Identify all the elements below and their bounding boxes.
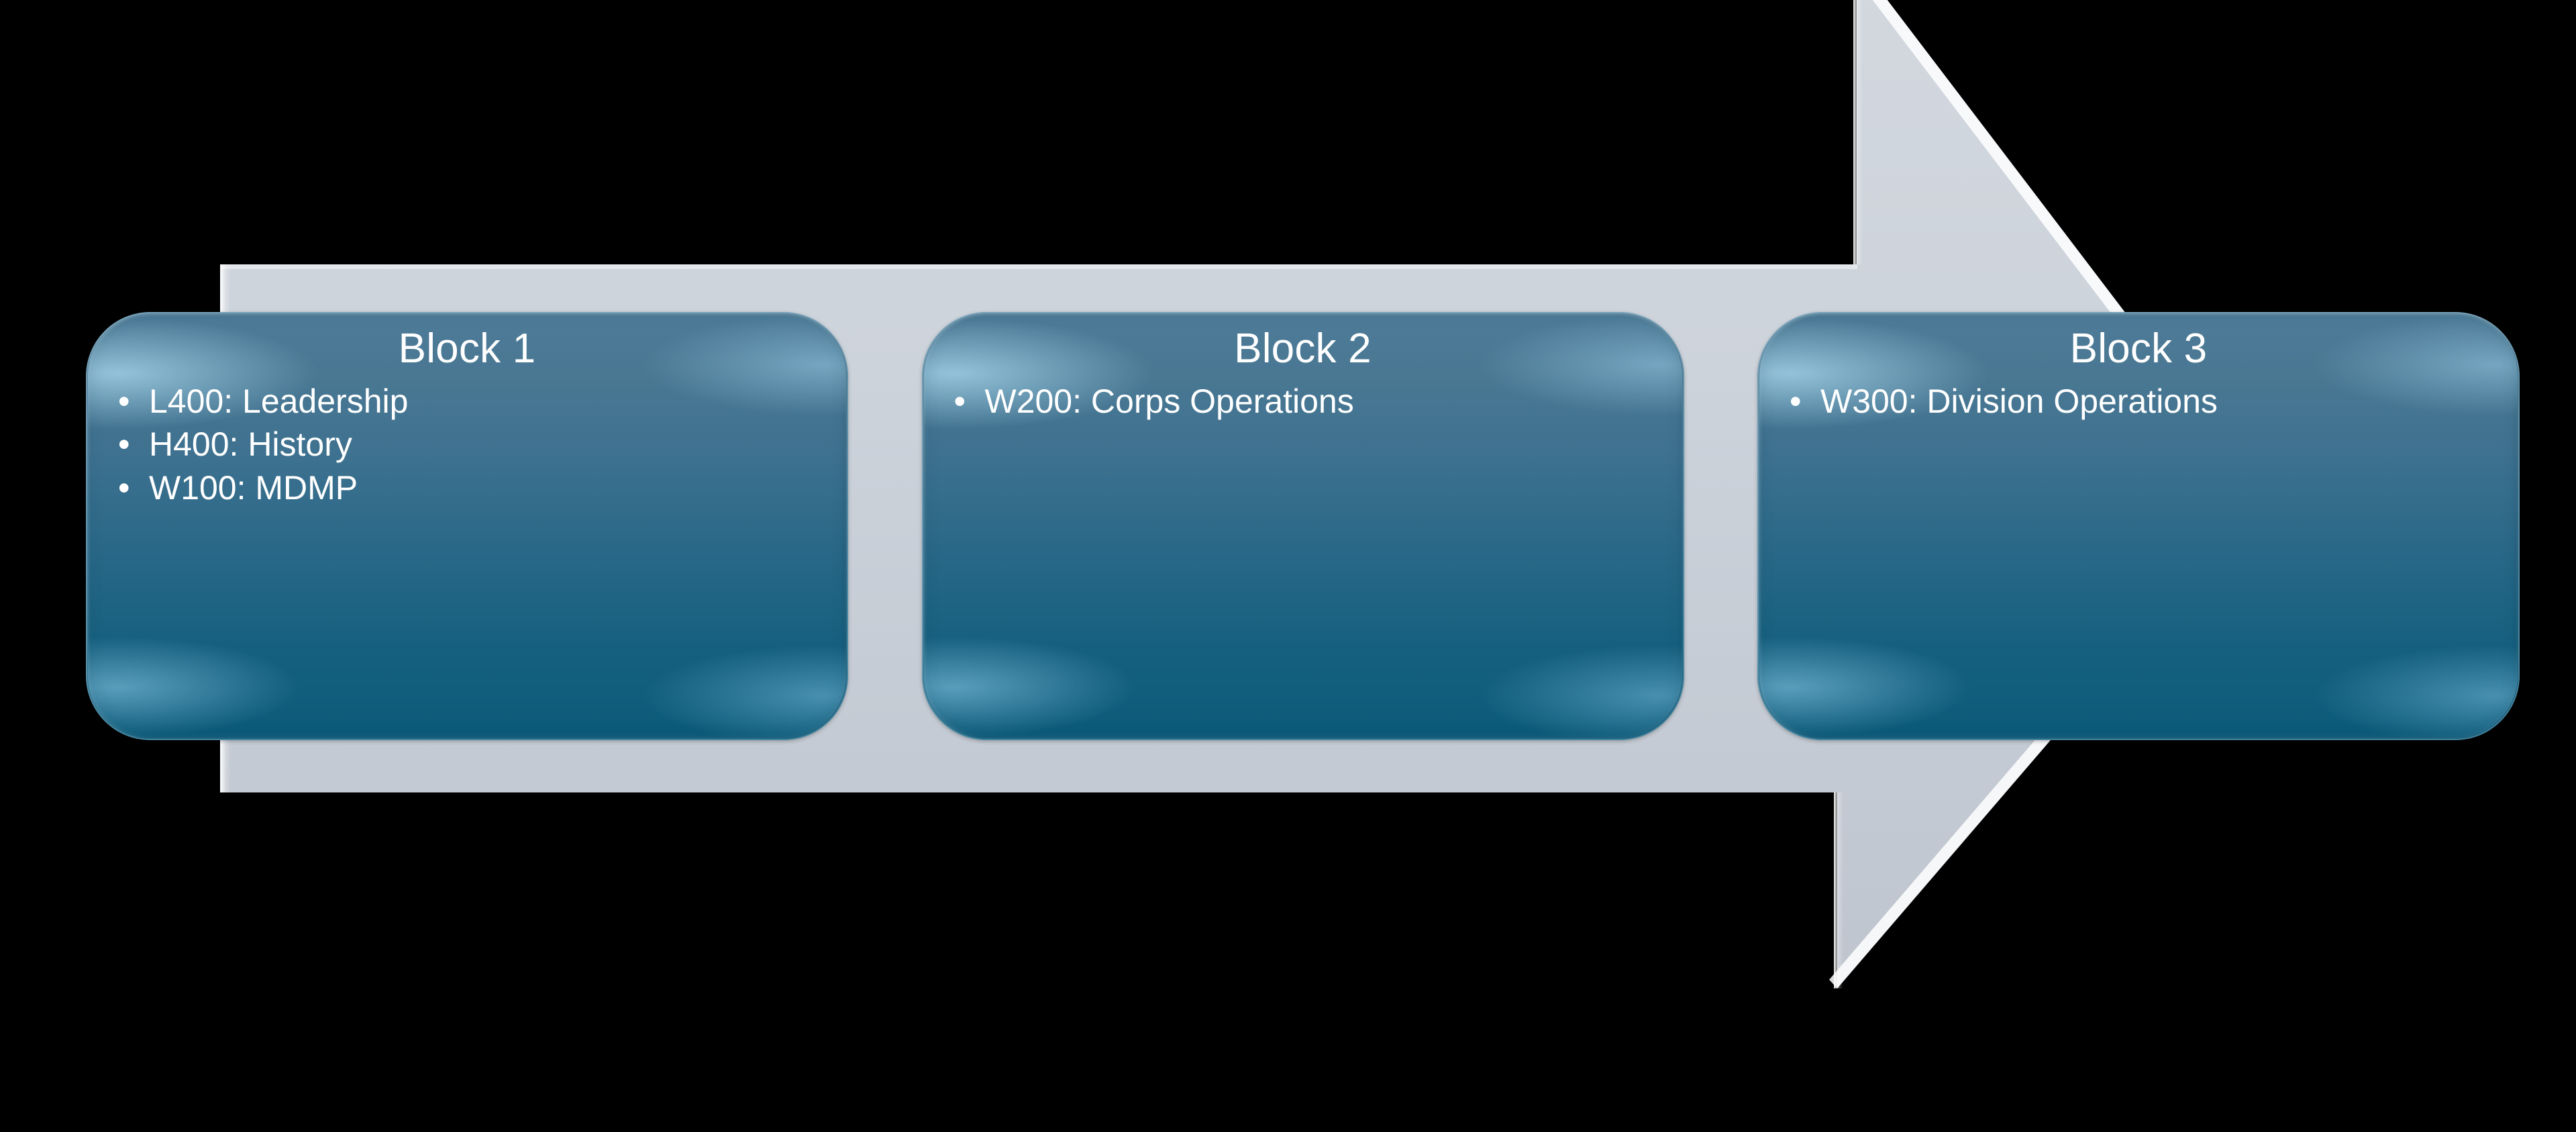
blocks-row: Block 1 • L400: Leadership • H400: Histo… [86, 312, 2520, 740]
bullet-icon: • [118, 468, 130, 508]
block-3-title: Block 3 [1788, 327, 2489, 371]
block-2-content: Block 2 • W200: Corps Operations [953, 327, 1653, 421]
block-3-content: Block 3 • W300: Division Operations [1788, 327, 2489, 421]
list-item: • H400: History [117, 425, 817, 464]
bullet-icon: • [118, 425, 130, 464]
diagram-canvas: Block 1 • L400: Leadership • H400: Histo… [0, 0, 2576, 1132]
block-1-course-list: • L400: Leadership • H400: History • W10… [117, 382, 817, 508]
block-card-2[interactable]: Block 2 • W200: Corps Operations [922, 312, 1684, 740]
block-2-title: Block 2 [953, 327, 1653, 371]
block-2-course-list: • W200: Corps Operations [953, 382, 1653, 421]
block-1-content: Block 1 • L400: Leadership • H400: Histo… [117, 327, 817, 507]
block-1-title: Block 1 [117, 327, 817, 371]
list-item: • W300: Division Operations [1788, 382, 2489, 421]
list-item: • W200: Corps Operations [953, 382, 1653, 421]
bullet-icon: • [954, 382, 966, 421]
list-item-label: W200: Corps Operations [985, 382, 1354, 420]
list-item: • W100: MDMP [117, 468, 817, 508]
bullet-icon: • [1790, 382, 1802, 421]
bullet-icon: • [118, 382, 130, 421]
block-3-course-list: • W300: Division Operations [1788, 382, 2489, 421]
list-item-label: H400: History [149, 425, 352, 463]
block-card-3[interactable]: Block 3 • W300: Division Operations [1757, 312, 2520, 740]
list-item: • L400: Leadership [117, 382, 817, 421]
list-item-label: L400: Leadership [149, 382, 408, 420]
block-card-1[interactable]: Block 1 • L400: Leadership • H400: Histo… [86, 312, 848, 740]
list-item-label: W300: Division Operations [1820, 382, 2218, 420]
list-item-label: W100: MDMP [149, 469, 358, 507]
